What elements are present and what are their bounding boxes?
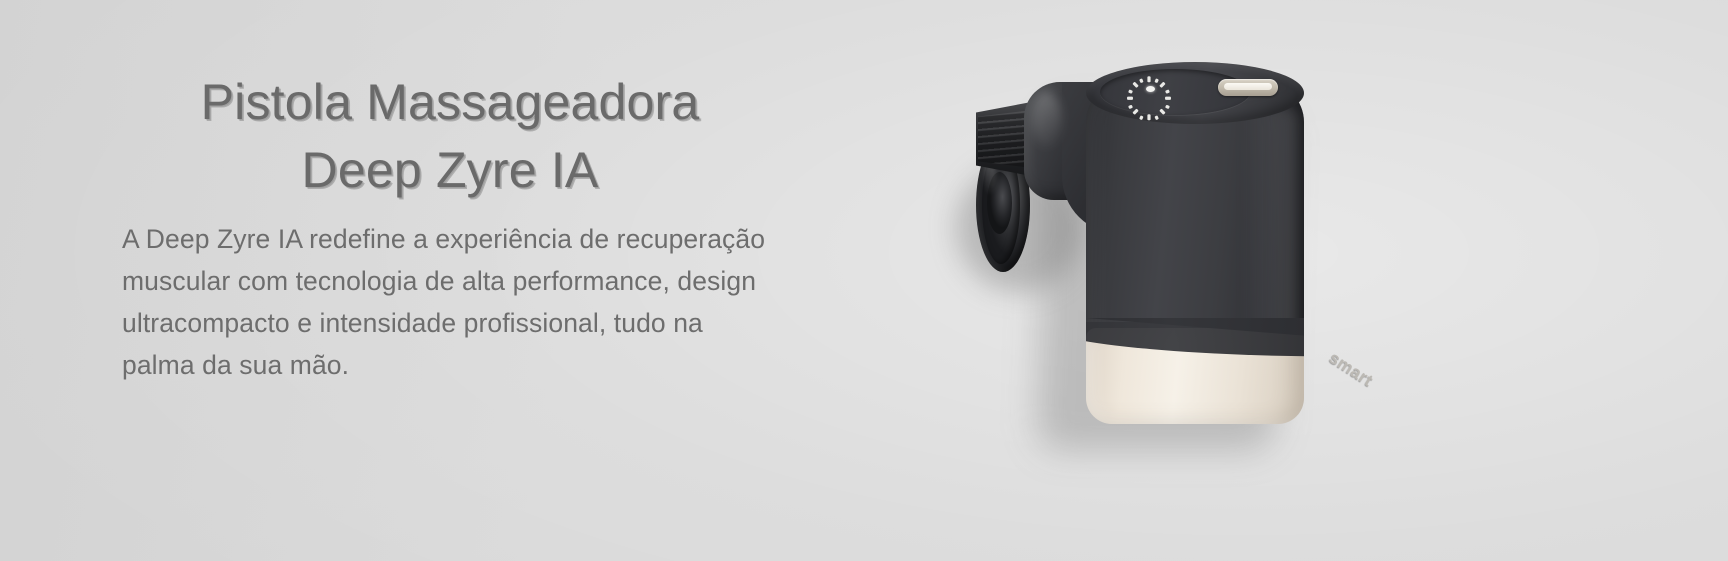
sunburst-center <box>1146 86 1155 92</box>
motor-collar-highlight <box>1032 92 1062 148</box>
sunburst-ray <box>1132 82 1138 88</box>
power-button-face <box>1224 83 1272 90</box>
sunburst-ray <box>1166 97 1172 100</box>
sunburst-ray <box>1139 78 1143 82</box>
product-image-massage-gun: smart <box>940 60 1410 460</box>
page-title: Pistola Massageadora Deep Zyre IA <box>0 68 900 204</box>
sunburst-ray <box>1147 115 1150 121</box>
sunburst-ray <box>1127 97 1133 100</box>
power-button[interactable] <box>1218 79 1278 96</box>
product-hero-banner: Pistola Massageadora Deep Zyre IA A Deep… <box>0 0 1728 561</box>
copy-column: Pistola Massageadora Deep Zyre IA A Deep… <box>0 0 990 561</box>
sunburst-ray <box>1155 78 1159 82</box>
brand-mark-smart: smart <box>1325 348 1376 391</box>
sunburst-ray <box>1147 76 1150 82</box>
sunburst-ray <box>1160 82 1166 88</box>
product-description: A Deep Zyre IA redefine a experiência de… <box>122 218 972 386</box>
sunburst-intensity-icon[interactable] <box>1133 76 1167 102</box>
